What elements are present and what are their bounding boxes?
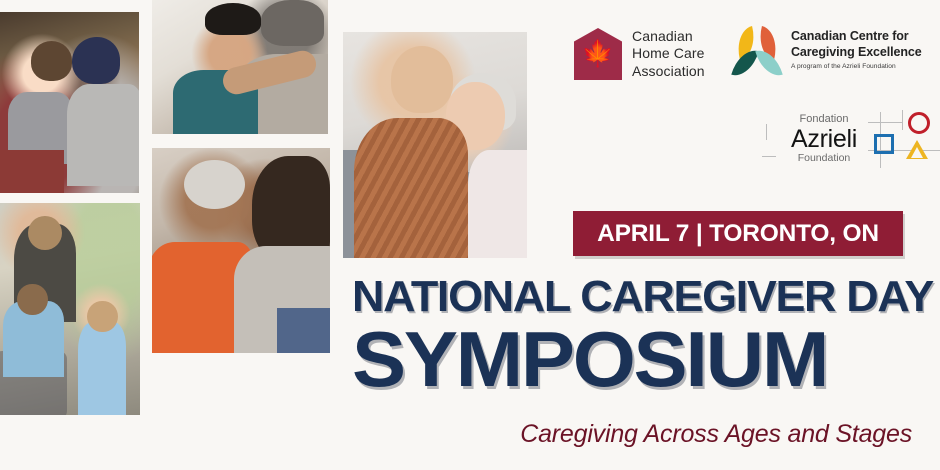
photo-1-image [0, 12, 139, 193]
logo-azrieli-text: Fondation Azrieli Foundation [768, 114, 880, 164]
logo-azrieli-foundation: Fondation Azrieli Foundation [762, 110, 940, 172]
sponsor-logo-row: 🍁 Canadian Home Care Association Canadia… [566, 22, 940, 94]
maple-leaf-icon: 🍁 [582, 40, 614, 66]
event-date-location-banner: APRIL 7 | TORONTO, ON [573, 211, 903, 256]
logo-canadian-home-care-association: 🍁 Canadian Home Care Association [574, 28, 705, 80]
photo-4-shape [28, 216, 62, 250]
logo-ccce-text: Canadian Centre for Caregiving Excellenc… [791, 26, 922, 70]
house-with-maple-leaf-icon: 🍁 [574, 28, 622, 80]
photo-2-image [152, 0, 328, 134]
triangle-icon-yellow [906, 140, 928, 159]
logo-canadian-centre-for-caregiving-excellence: Canadian Centre for Caregiving Excellenc… [734, 26, 922, 78]
photo-3-shape [277, 308, 330, 353]
collage-photo-man-and-older-woman [0, 12, 139, 193]
photo-4-shape [17, 284, 48, 316]
photo-4-shape [87, 301, 118, 333]
collage-photo-family-with-wheelchair [0, 203, 140, 415]
photo-3-shape [184, 160, 245, 209]
photo-5-shape [468, 150, 527, 258]
logo-ccce-tagline: A program of the Azrieli Foundation [791, 63, 922, 70]
photo-1-shape [0, 150, 64, 193]
photo-5-shape [391, 46, 454, 114]
photo-3-image [152, 148, 330, 353]
photo-5-image [343, 32, 527, 258]
logo-ccce-line2: Caregiving Excellence [791, 45, 922, 61]
circle-icon-red [908, 112, 930, 134]
four-petal-flower-icon [734, 26, 782, 78]
collage-photo-two-women-foreheads-together [152, 148, 330, 353]
photo-1-shape [72, 37, 119, 84]
poster-canvas: 🍁 Canadian Home Care Association Canadia… [0, 0, 940, 470]
logo-chca-line3: Association [632, 63, 705, 80]
logo-chca-line1: Canadian [632, 28, 705, 45]
photo-4-image [0, 203, 140, 415]
square-icon-blue [874, 134, 894, 154]
photo-5-shape [354, 118, 468, 258]
logo-azrieli-fondation: Fondation [768, 114, 880, 125]
event-subtitle: Caregiving Across Ages and Stages [520, 420, 912, 449]
banner-text: APRIL 7 | TORONTO, ON [597, 220, 879, 248]
logo-chca-text: Canadian Home Care Association [632, 28, 705, 79]
logo-azrieli-foundation-label: Foundation [768, 153, 880, 164]
photo-4-shape [78, 322, 126, 415]
photo-1-shape [31, 41, 73, 81]
collage-photo-elderly-couple [343, 32, 527, 258]
event-title-line-2: SYMPOSIUM [352, 320, 940, 398]
logo-azrieli-name: Azrieli [768, 126, 880, 152]
photo-2-shape [261, 0, 324, 46]
logo-ccce-line1: Canadian Centre for [791, 29, 922, 45]
photo-1-shape [67, 84, 139, 185]
photo-2-shape [205, 3, 261, 35]
collage-photo-young-man-hugging-older-man [152, 0, 328, 134]
logo-chca-line2: Home Care [632, 45, 705, 62]
